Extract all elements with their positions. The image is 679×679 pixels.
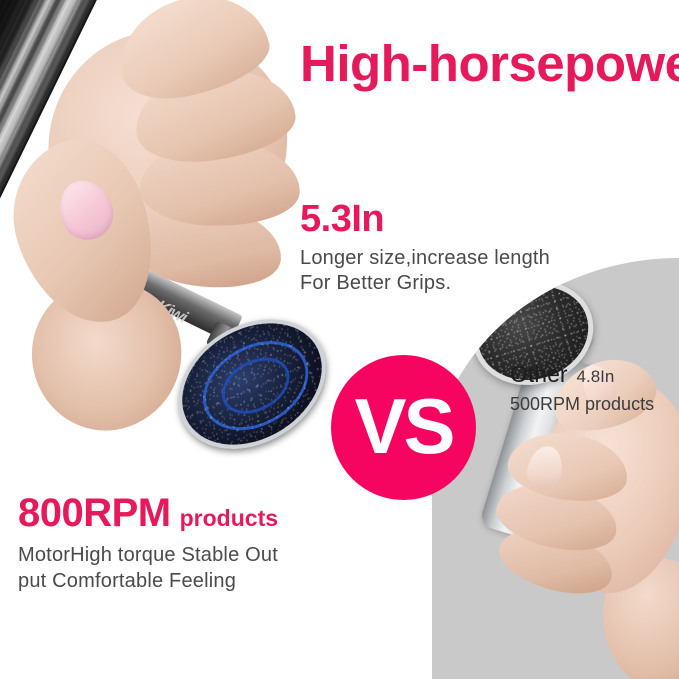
other-spec-block: Other4.8In 500RPM products xyxy=(510,362,679,415)
other-size-value: 4.8In xyxy=(577,367,615,386)
versus-label: VS xyxy=(354,387,452,465)
main-rpm-unit: products xyxy=(180,505,278,531)
other-product-panel xyxy=(432,258,679,679)
infographic-canvas: Kiwi High-horsepower 5.3In Longer size,i… xyxy=(0,0,679,679)
main-rpm-description-line2: put Comfortable Feeling xyxy=(18,568,368,594)
main-rpm-description: MotorHigh torque Stable Out put Comforta… xyxy=(18,542,368,594)
main-rpm-description-line1: MotorHigh torque Stable Out xyxy=(18,542,368,568)
disc-grit-texture xyxy=(167,301,336,466)
main-product-photo: Kiwi xyxy=(0,0,370,460)
versus-badge: VS xyxy=(331,355,476,500)
main-rpm-value: 800RPM xyxy=(18,491,171,535)
other-rpm-text: 500RPM products xyxy=(510,394,679,415)
main-rpm-row: 800RPMproducts xyxy=(18,492,368,534)
other-product-photo xyxy=(432,258,679,679)
other-label: Other xyxy=(510,361,568,387)
main-rpm-spec-block: 800RPMproducts MotorHigh torque Stable O… xyxy=(18,492,368,594)
other-spec-row: Other4.8In xyxy=(510,362,679,387)
